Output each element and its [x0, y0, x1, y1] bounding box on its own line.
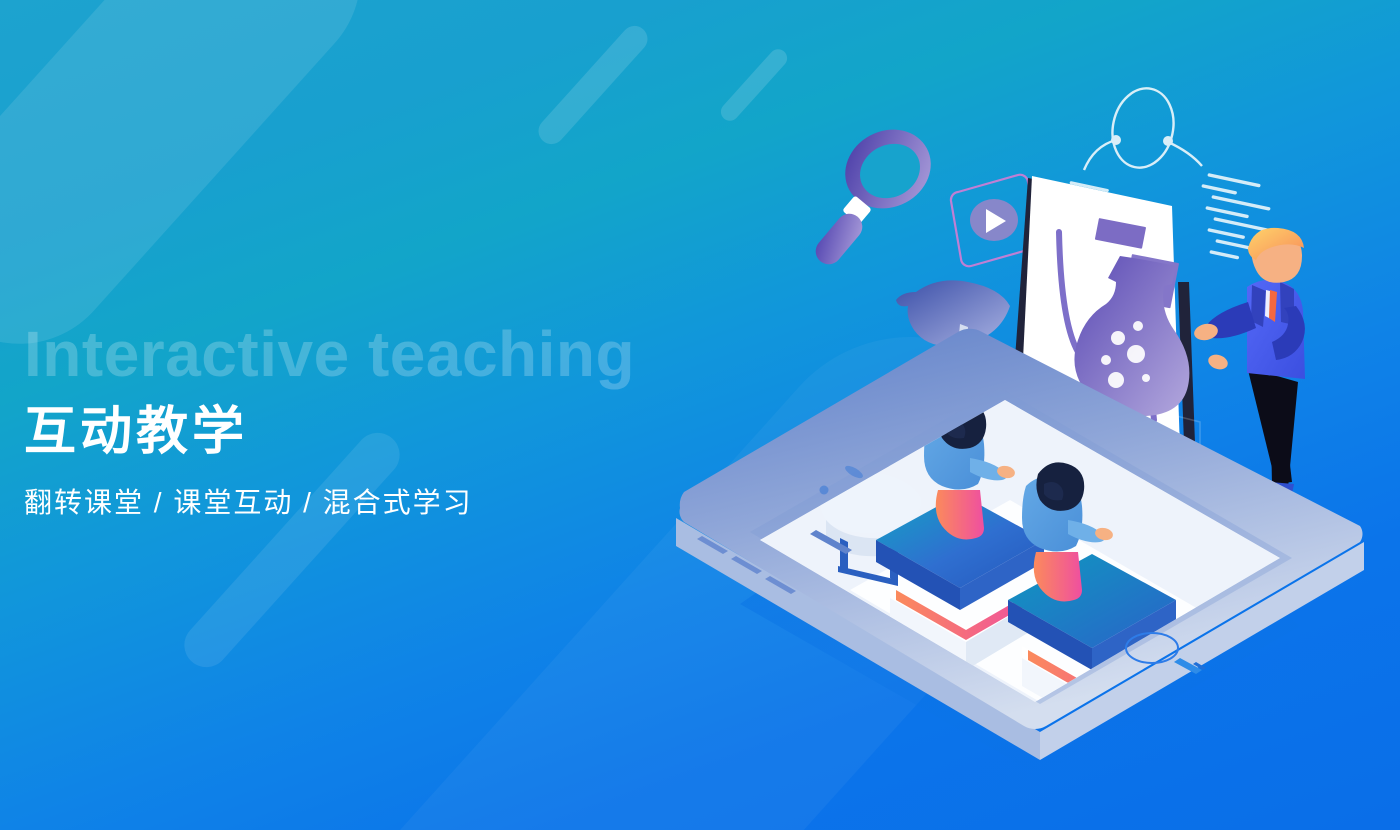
- idea-loop-icon: [1084, 83, 1202, 174]
- magnifier-icon: [810, 115, 944, 270]
- illustration: [640, 70, 1400, 830]
- decor-diagonal-bar-2: [533, 21, 653, 150]
- ghost-title-text: Interactive teaching: [24, 322, 635, 386]
- page-subtitle: 翻转课堂 / 课堂互动 / 混合式学习: [24, 481, 635, 521]
- headline-block: Interactive teaching 互动教学 翻转课堂 / 课堂互动 / …: [24, 322, 635, 521]
- banner-root: Interactive teaching 互动教学 翻转课堂 / 课堂互动 / …: [0, 0, 1400, 830]
- page-title: 互动教学: [24, 404, 635, 461]
